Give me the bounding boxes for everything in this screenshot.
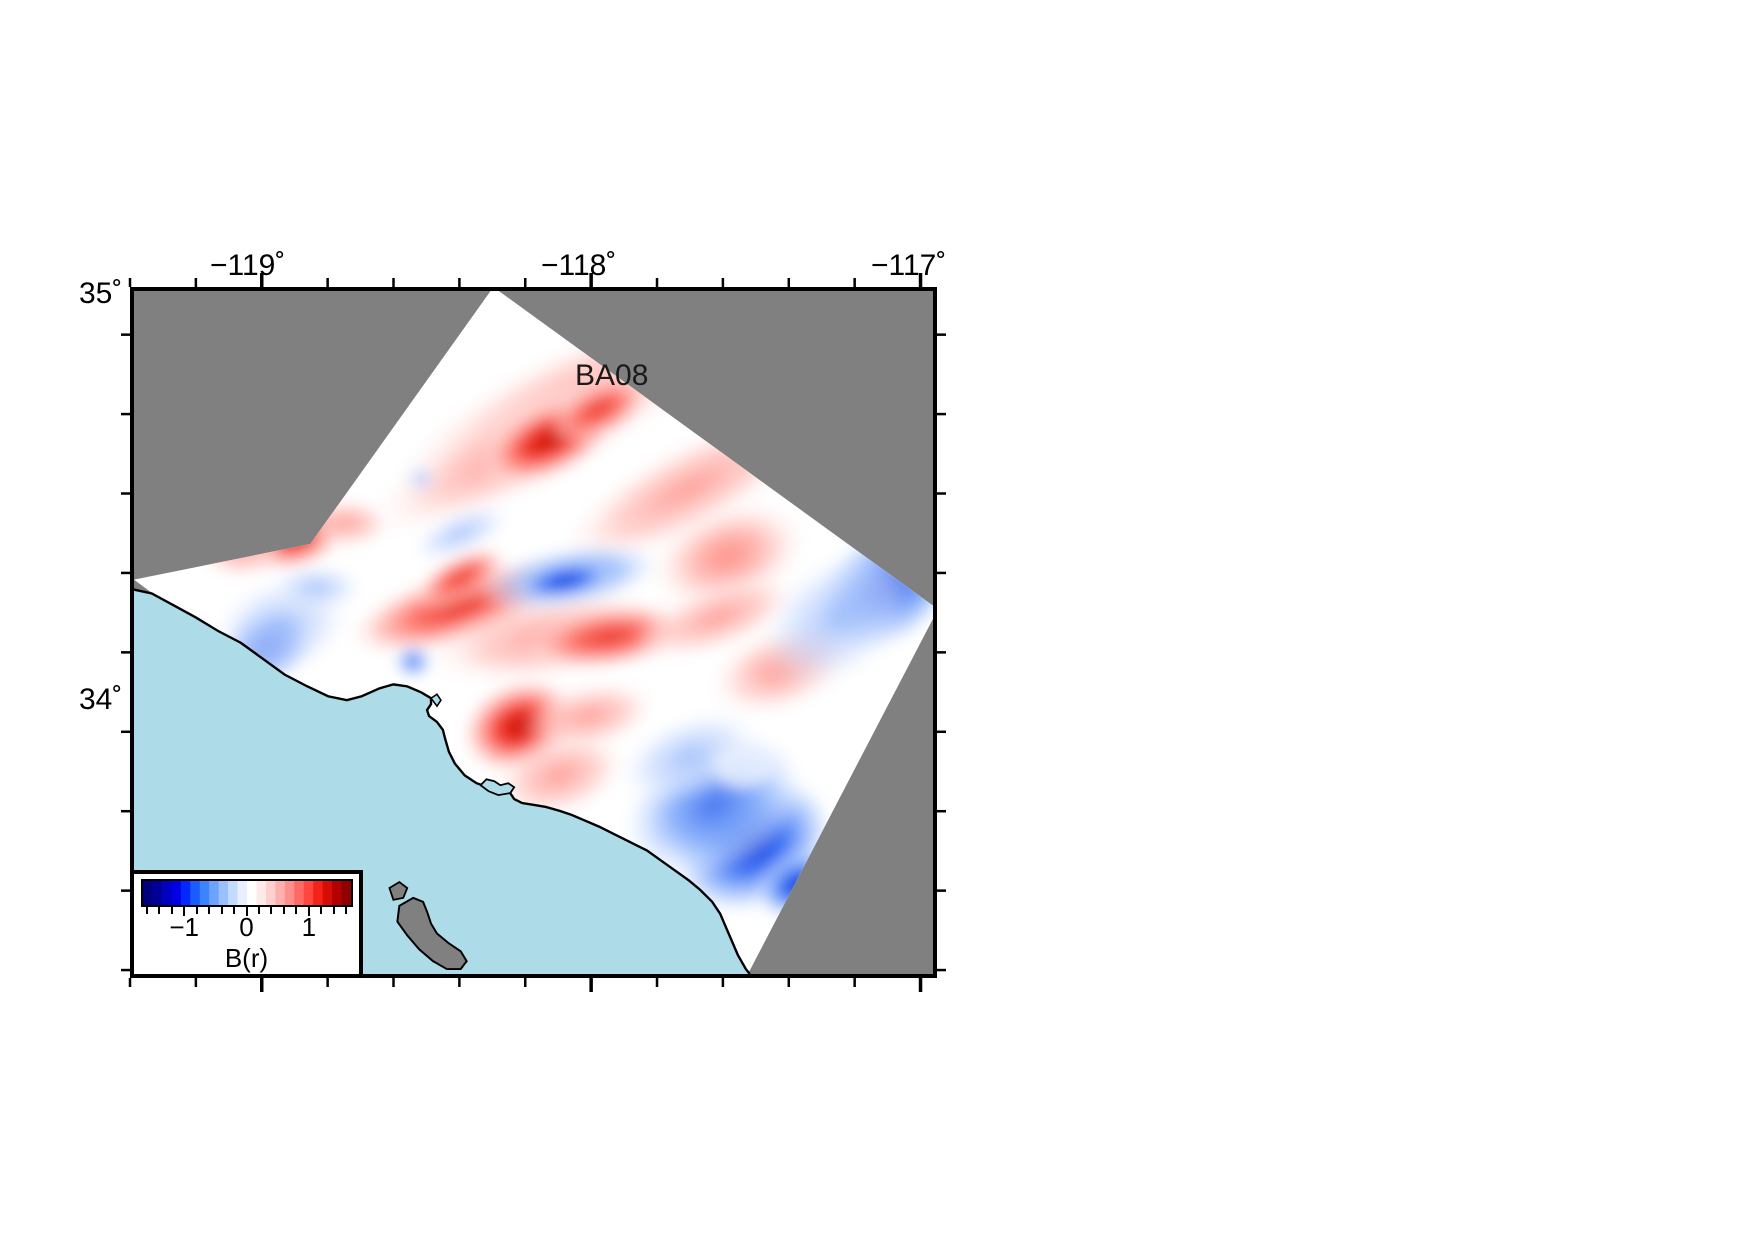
colorbar-cell — [341, 881, 350, 905]
colorbar-cell — [180, 881, 190, 905]
colorbar-cell — [161, 881, 171, 905]
y-axis-tick-label-35: 35˚ — [79, 277, 122, 311]
colorbar-gradient — [143, 881, 351, 905]
colorbar-frame — [141, 879, 353, 907]
y-axis-tick-label-34: 34˚ — [79, 683, 122, 717]
colorbar-cell — [294, 881, 304, 905]
colorbar-tick-label: 0 — [239, 912, 253, 943]
x-axis-tick-label-minus119: −119˚ — [210, 249, 285, 283]
colorbar-cell — [152, 881, 162, 905]
colorbar-tick-label: −1 — [169, 912, 199, 943]
colorbar-cell — [209, 881, 219, 905]
colorbar-cell — [275, 881, 285, 905]
colorbar-cell — [247, 881, 257, 905]
colorbar-legend[interactable]: −101 B(r) — [130, 870, 363, 978]
colorbar-cell — [256, 881, 266, 905]
figure-root: −119˚ −118˚ −117˚ 35˚ 34˚ — [0, 0, 1754, 1240]
colorbar-tick-label: 1 — [302, 912, 316, 943]
colorbar-cell — [171, 881, 181, 905]
colorbar-cell — [303, 881, 313, 905]
colorbar-cell — [228, 881, 238, 905]
x-axis-tick-label-minus118: −118˚ — [541, 249, 616, 283]
colorbar-cell — [332, 881, 342, 905]
colorbar-cell — [284, 881, 294, 905]
colorbar-cell — [265, 881, 275, 905]
colorbar-cell — [218, 881, 228, 905]
map-title: BA08 — [575, 359, 648, 393]
x-axis-tick-label-minus117: −117˚ — [871, 249, 946, 283]
colorbar-title: B(r) — [225, 943, 268, 974]
colorbar-cell — [322, 881, 332, 905]
colorbar-cell — [190, 881, 200, 905]
colorbar-cell — [313, 881, 323, 905]
colorbar-cell — [143, 881, 153, 905]
colorbar-tick-labels: −101 — [141, 914, 353, 942]
colorbar-cell — [199, 881, 209, 905]
colorbar-cell — [237, 881, 247, 905]
